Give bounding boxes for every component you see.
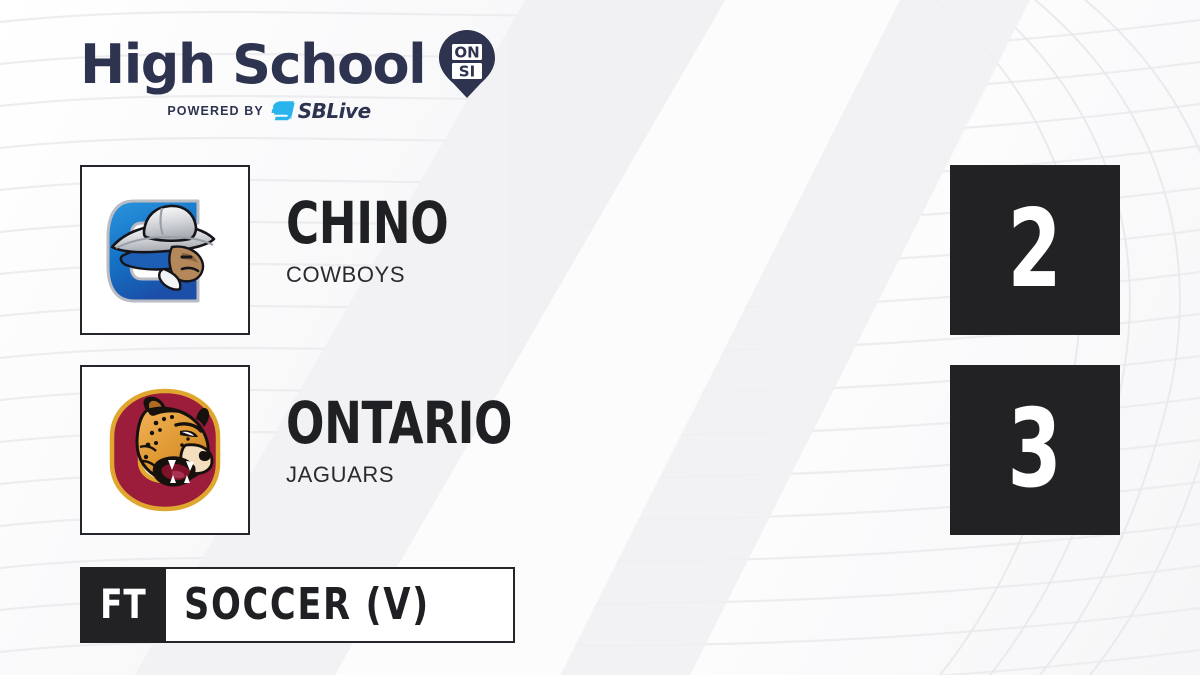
team-mascot: COWBOYS <box>286 262 494 288</box>
sblive-s-mark-icon <box>271 101 295 121</box>
status-period-text: FT <box>100 585 146 625</box>
status-sport-text: SOCCER (V) <box>184 583 430 627</box>
team-score: 3 <box>1008 396 1062 504</box>
team-row: ONTARIO JAGUARS 3 <box>0 365 1200 535</box>
team-score-box: 3 <box>950 365 1120 535</box>
team-name: ONTARIO <box>286 395 512 451</box>
scoreboard-graphic: High School ON SI POWERED BY SB <box>0 0 1200 675</box>
team-logo-box <box>80 165 250 335</box>
sblive-logo: SBLive <box>271 101 371 121</box>
team-text-block: CHINO COWBOYS <box>286 195 494 288</box>
powered-by-row: POWERED BY SBLive <box>94 101 444 121</box>
chino-cowboys-logo <box>90 175 240 325</box>
brand-header: High School ON SI POWERED BY SB <box>80 34 510 134</box>
team-score: 2 <box>1008 196 1062 304</box>
team-logo-box <box>80 365 250 535</box>
team-name: CHINO <box>286 195 448 251</box>
game-status-bar: FT SOCCER (V) <box>80 567 515 643</box>
team-text-block: ONTARIO JAGUARS <box>286 395 576 488</box>
status-period-block: FT <box>80 567 166 643</box>
ontario-jaguars-logo <box>90 375 240 525</box>
location-pin-icon: ON SI <box>439 30 495 98</box>
badge-on-text: ON <box>455 44 480 62</box>
sblive-wordmark: SBLive <box>298 101 371 121</box>
team-mascot: JAGUARS <box>286 462 576 488</box>
brand-wordmark-row: High School ON SI <box>80 34 510 96</box>
brand-wordmark: High School <box>80 36 425 94</box>
team-score-box: 2 <box>950 165 1120 335</box>
badge-si-text: SI <box>459 63 475 81</box>
team-row: CHINO COWBOYS 2 <box>0 165 1200 335</box>
status-sport-block: SOCCER (V) <box>166 567 515 643</box>
powered-by-label: POWERED BY <box>167 104 263 118</box>
